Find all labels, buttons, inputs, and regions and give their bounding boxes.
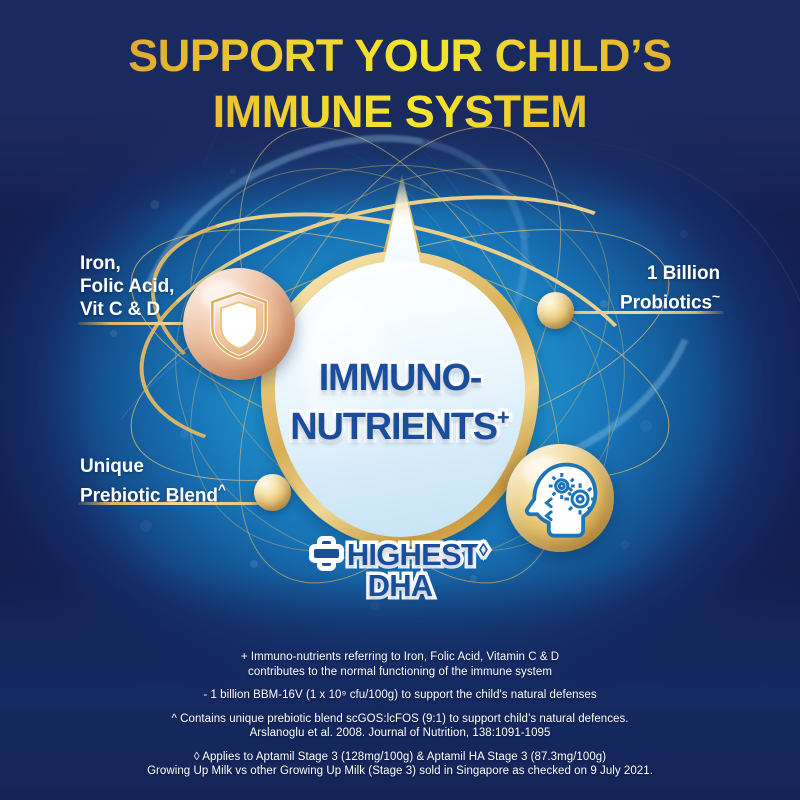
- label-prebiotic-blend: Unique Prebiotic Blend^: [80, 455, 226, 507]
- shield-sphere: [183, 268, 295, 380]
- dha-superscript: ◊: [479, 540, 487, 560]
- footnote-dha: ◊ Applies to Aptamil Stage 3 (128mg/100g…: [0, 750, 800, 779]
- page-title: SUPPORT YOUR CHILD’S IMMUNE SYSTEM: [0, 28, 800, 140]
- footnote-immuno-line-2: contributes to the normal functioning of…: [0, 665, 800, 680]
- label-prebiotic-line-1: Unique: [80, 455, 226, 478]
- immuno-nutrients-title: IMMUNO- NUTRIENTS+: [0, 358, 800, 447]
- plus-icon: [313, 540, 340, 567]
- footnote-immuno: + Immuno-nutrients referring to Iron, Fo…: [0, 650, 800, 679]
- highest-dha-title: HIGHEST◊ DHA: [0, 535, 800, 601]
- label-iron-folic-vit: Iron, Folic Acid, Vit C & D: [80, 252, 174, 321]
- footnote-dha-line-1: ◊ Applies to Aptamil Stage 3 (128mg/100g…: [0, 750, 800, 765]
- label-probiotics-superscript: ~: [712, 288, 720, 304]
- headline-line-2: IMMUNE SYSTEM: [0, 84, 800, 140]
- label-probiotics-underline: [566, 311, 724, 314]
- footnote-prebiotic-line-2: Arslanoglu et al. 2008. Journal of Nutri…: [0, 726, 800, 741]
- label-iron-line-3: Vit C & D: [80, 298, 174, 321]
- dha-line-1-wrap: HIGHEST◊: [0, 535, 800, 570]
- orbit-node-right: [537, 292, 574, 329]
- dha-line-1: HIGHEST: [347, 537, 479, 572]
- label-probiotics-line-1: 1 Billion: [520, 262, 720, 285]
- dha-line-2: DHA: [0, 570, 800, 601]
- footnote-immuno-line-1: + Immuno-nutrients referring to Iron, Fo…: [0, 650, 800, 665]
- brain-gears-icon: [519, 457, 603, 541]
- footnotes: + Immuno-nutrients referring to Iron, Fo…: [0, 650, 800, 788]
- footnote-probiotics: - 1 billion BBM-16V (1 x 10⁹ cfu/100g) t…: [0, 688, 800, 703]
- footnote-prebiotic-line-1: ^ Contains unique prebiotic blend scGOS:…: [0, 712, 800, 727]
- immuno-line-1: IMMUNO-: [0, 358, 800, 398]
- footnote-dha-line-2: Growing Up Milk vs other Growing Up Milk…: [0, 764, 800, 779]
- label-prebiotic-superscript: ^: [218, 481, 226, 497]
- headline-line-1: SUPPORT YOUR CHILD’S: [128, 30, 672, 81]
- immuno-superscript: +: [497, 405, 510, 430]
- shield-icon: [208, 290, 270, 360]
- label-prebiotic-underline: [78, 502, 268, 505]
- label-iron-line-1: Iron,: [80, 252, 174, 275]
- brain-sphere: [506, 444, 614, 552]
- immuno-line-2-wrap: NUTRIENTS+: [0, 398, 800, 447]
- immuno-line-2: NUTRIENTS: [290, 406, 497, 448]
- orbit-node-left: [254, 474, 291, 511]
- footnote-prebiotic: ^ Contains unique prebiotic blend scGOS:…: [0, 712, 800, 741]
- label-iron-line-2: Folic Acid,: [80, 275, 174, 298]
- poster-canvas: SUPPORT YOUR CHILD’S IMMUNE SYSTEM IMMUN…: [0, 0, 800, 800]
